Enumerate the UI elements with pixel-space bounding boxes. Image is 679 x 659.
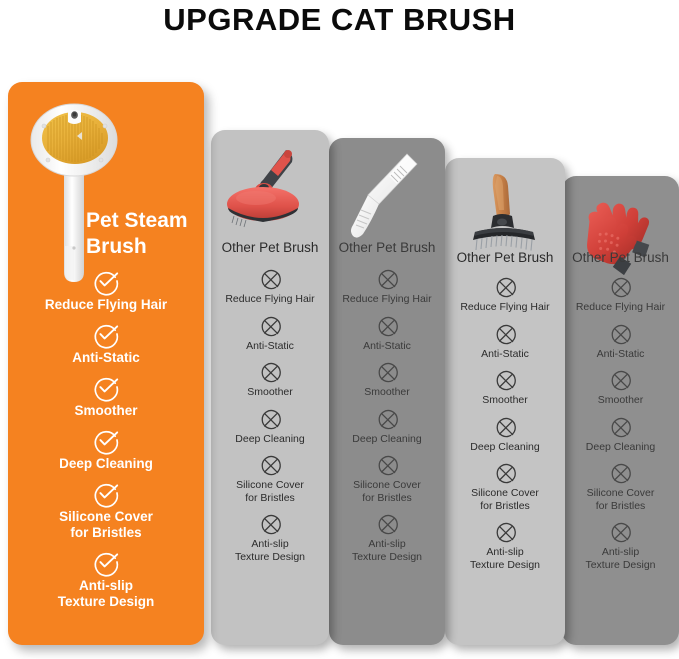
x-circle-icon [609, 462, 632, 485]
competitor-column-1[interactable]: Other Pet Brush Reduce Flying Hair An [211, 130, 329, 645]
x-circle-icon [259, 513, 282, 536]
feature-row: Deep Cleaning [445, 416, 565, 454]
x-circle-icon [376, 408, 399, 431]
competitor-feature-list: Reduce Flying Hair Anti-Static Smoot [445, 276, 565, 580]
feature-label: Anti-Static [329, 340, 445, 353]
x-circle-icon [259, 454, 282, 477]
feature-label: Anti-slip Texture Design [562, 546, 679, 571]
x-circle-icon [376, 454, 399, 477]
feature-label: Deep Cleaning [329, 433, 445, 446]
feature-label: Silicone Cover for Bristles [445, 487, 565, 512]
competitor-column-3[interactable]: Other Pet Brush Reduce Flying Hair An [445, 158, 565, 645]
feature-label: Silicone Cover for Bristles [211, 479, 329, 504]
feature-label: Deep Cleaning [211, 433, 329, 446]
white-comb-icon [337, 146, 437, 246]
feature-row: Anti-slip Texture Design [329, 513, 445, 563]
competitor-feature-list: Reduce Flying Hair Anti-Static Smoot [562, 276, 679, 580]
feature-row: Silicone Cover for Bristles [562, 462, 679, 512]
check-circle-icon [93, 321, 119, 347]
feature-row: Anti-Static [211, 315, 329, 353]
feature-label: Smoother [8, 403, 204, 419]
competitor-name: Other Pet Brush [445, 250, 565, 265]
competitor-name: Other Pet Brush [211, 240, 329, 255]
x-circle-icon [376, 513, 399, 536]
x-circle-icon [259, 315, 282, 338]
grooming-gloves-icon [571, 184, 671, 284]
feature-row: Reduce Flying Hair [562, 276, 679, 314]
feature-row: Reduce Flying Hair [211, 268, 329, 306]
featured-product-name: Pet Steam Brush [86, 208, 198, 260]
x-circle-icon [494, 369, 517, 392]
check-circle-icon [93, 480, 119, 506]
feature-label: Smoother [445, 394, 565, 407]
x-circle-icon [609, 416, 632, 439]
featured-feature-list: Reduce Flying Hair Anti-Static Smoother [8, 268, 204, 618]
feature-label: Anti-Static [211, 340, 329, 353]
x-circle-icon [609, 276, 632, 299]
feature-label: Anti-Static [8, 350, 204, 366]
feature-row: Anti-Static [445, 323, 565, 361]
feature-label: Smoother [562, 394, 679, 407]
feature-row: Reduce Flying Hair [8, 268, 204, 313]
feature-label: Reduce Flying Hair [445, 301, 565, 314]
feature-row: Anti-slip Texture Design [8, 549, 204, 610]
feature-label: Reduce Flying Hair [329, 293, 445, 306]
feature-row: Smoother [211, 361, 329, 399]
check-circle-icon [93, 268, 119, 294]
feature-label: Deep Cleaning [562, 441, 679, 454]
feature-label: Reduce Flying Hair [8, 297, 204, 313]
feature-row: Reduce Flying Hair [329, 268, 445, 306]
check-circle-icon [93, 427, 119, 453]
x-circle-icon [376, 315, 399, 338]
x-circle-icon [376, 268, 399, 291]
feature-row: Reduce Flying Hair [445, 276, 565, 314]
feature-row: Deep Cleaning [8, 427, 204, 472]
x-circle-icon [494, 462, 517, 485]
feature-row: Anti-slip Texture Design [211, 513, 329, 563]
x-circle-icon [609, 369, 632, 392]
feature-row: Silicone Cover for Bristles [8, 480, 204, 541]
red-slicker-brush-icon [220, 138, 320, 238]
feature-row: Silicone Cover for Bristles [211, 454, 329, 504]
feature-row: Deep Cleaning [329, 408, 445, 446]
x-circle-icon [609, 323, 632, 346]
feature-label: Anti-Static [445, 348, 565, 361]
feature-row: Anti-Static [8, 321, 204, 366]
feature-row: Smoother [329, 361, 445, 399]
feature-label: Silicone Cover for Bristles [8, 509, 204, 541]
x-circle-icon [376, 361, 399, 384]
x-circle-icon [494, 521, 517, 544]
feature-row: Smoother [445, 369, 565, 407]
check-circle-icon [93, 374, 119, 400]
x-circle-icon [609, 521, 632, 544]
check-circle-icon [93, 549, 119, 575]
competitor-feature-list: Reduce Flying Hair Anti-Static Smoot [329, 268, 445, 572]
x-circle-icon [259, 408, 282, 431]
feature-label: Silicone Cover for Bristles [562, 487, 679, 512]
competitor-name: Other Pet Brush [329, 240, 445, 255]
competitor-column-2[interactable]: Other Pet Brush Reduce Flying Hair An [329, 138, 445, 645]
competitor-name: Other Pet Brush [562, 250, 679, 265]
feature-row: Smoother [8, 374, 204, 419]
feature-row: Deep Cleaning [562, 416, 679, 454]
feature-label: Anti-slip Texture Design [445, 546, 565, 571]
page-title: UPGRADE CAT BRUSH [0, 2, 679, 38]
feature-row: Anti-slip Texture Design [562, 521, 679, 571]
feature-row: Anti-Static [329, 315, 445, 353]
feature-row: Smoother [562, 369, 679, 407]
feature-row: Anti-slip Texture Design [445, 521, 565, 571]
feature-label: Smoother [211, 386, 329, 399]
feature-row: Silicone Cover for Bristles [445, 462, 565, 512]
feature-label: Reduce Flying Hair [562, 301, 679, 314]
feature-row: Anti-Static [562, 323, 679, 361]
competitor-feature-list: Reduce Flying Hair Anti-Static Smoot [211, 268, 329, 572]
feature-label: Anti-slip Texture Design [8, 578, 204, 610]
feature-label: Smoother [329, 386, 445, 399]
x-circle-icon [259, 268, 282, 291]
feature-row: Silicone Cover for Bristles [329, 454, 445, 504]
feature-label: Deep Cleaning [8, 456, 204, 472]
feature-label: Anti-Static [562, 348, 679, 361]
feature-label: Deep Cleaning [445, 441, 565, 454]
feature-label: Reduce Flying Hair [211, 293, 329, 306]
feature-row: Deep Cleaning [211, 408, 329, 446]
x-circle-icon [259, 361, 282, 384]
x-circle-icon [494, 276, 517, 299]
x-circle-icon [494, 323, 517, 346]
featured-product-column[interactable]: Pet Steam Brush Reduce Flying Hair Anti-… [8, 82, 204, 645]
feature-label: Silicone Cover for Bristles [329, 479, 445, 504]
feature-label: Anti-slip Texture Design [211, 538, 329, 563]
x-circle-icon [494, 416, 517, 439]
competitor-column-4[interactable]: Other Pet Brush Reduce Flying Hair An [562, 176, 679, 645]
feature-label: Anti-slip Texture Design [329, 538, 445, 563]
